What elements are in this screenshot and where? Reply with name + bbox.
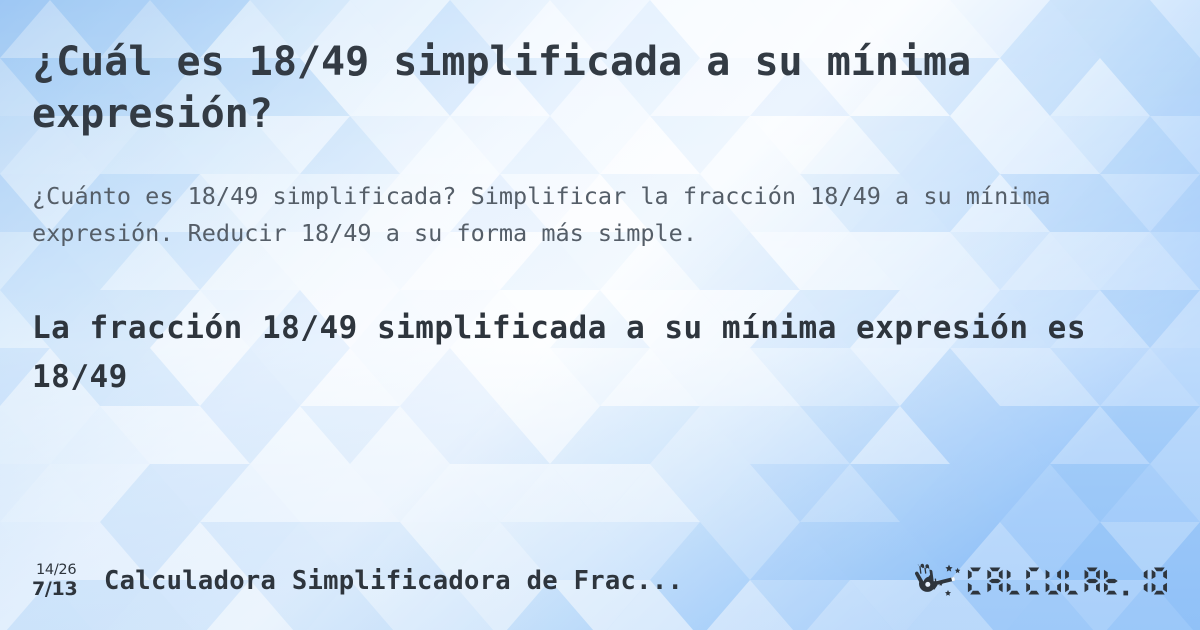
brand-logo[interactable] <box>911 561 1172 601</box>
site-title: Calculadora Simplificadora de Frac... <box>104 566 683 596</box>
brand-wordmark <box>967 561 1172 601</box>
og-card: ¿Cuál es 18/49 simplificada a su mínima … <box>0 0 1200 630</box>
fraction-after-label: 7/13 <box>32 580 77 599</box>
page-description: ¿Cuánto es 18/49 simplificada? Simplific… <box>32 178 1127 252</box>
page-title: ¿Cuál es 18/49 simplificada a su mínima … <box>32 36 1042 140</box>
footer: 14/26 7/13 Calculadora Simplificadora de… <box>32 558 1172 604</box>
fraction-before-label: 14/26 <box>32 563 76 578</box>
result-statement: La fracción 18/49 simplificada a su míni… <box>32 304 1092 402</box>
magic-wand-hand-icon <box>911 561 965 601</box>
fraction-simplify-icon: 14/26 7/13 <box>32 563 92 600</box>
